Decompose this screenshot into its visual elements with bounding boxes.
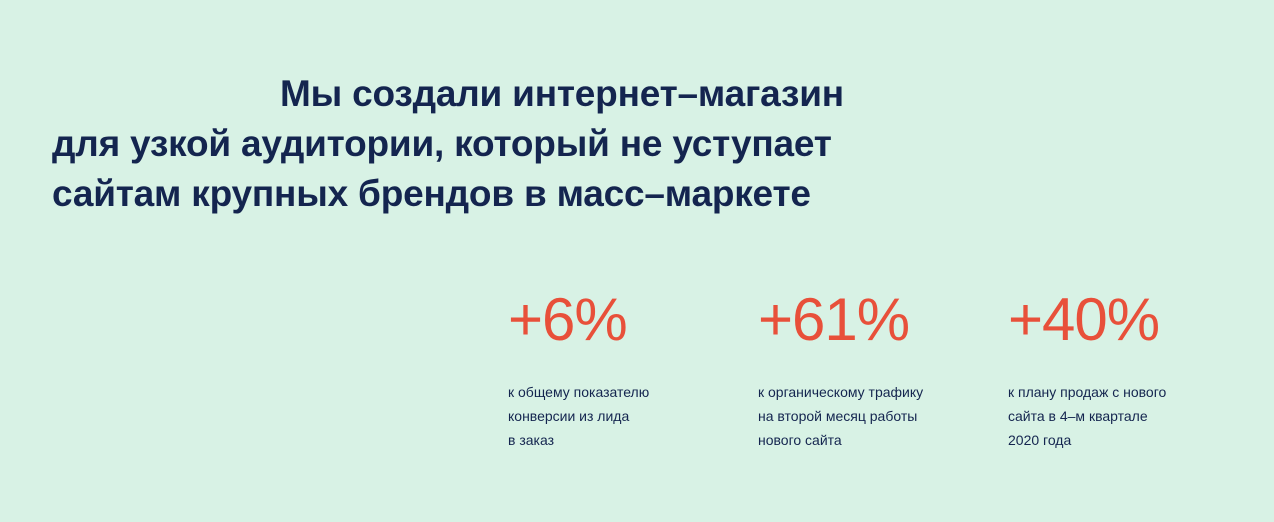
stat-item-conversion: +6% к общему показателю конверсии из лид… [508,288,758,452]
stat-value: +40% [1008,288,1240,352]
stat-description: к органическому трафику на второй месяц … [758,380,990,452]
stat-description: к плану продаж с нового сайта в 4–м квар… [1008,380,1240,452]
page-title-line-3: сайтам крупных брендов в масс–маркете [52,169,932,219]
stat-value: +6% [508,288,740,352]
case-study-section: Мы создали интернет–магазин для узкой ау… [0,0,1274,522]
stats-row: +6% к общему показателю конверсии из лид… [508,288,1258,452]
stat-description-line-1: к плану продаж с нового [1008,380,1240,404]
page-title: Мы создали интернет–магазин для узкой ау… [52,69,932,219]
stat-value: +61% [758,288,990,352]
stat-item-sales-plan: +40% к плану продаж с нового сайта в 4–м… [1008,288,1258,452]
stat-description-line-2: на второй месяц работы [758,404,990,428]
page-title-line-2: для узкой аудитории, который не уступает [52,119,932,169]
stat-description-line-2: конверсии из лида [508,404,740,428]
page-title-line-1: Мы создали интернет–магазин [52,69,932,119]
stat-description-line-3: 2020 года [1008,428,1240,452]
stat-description-line-1: к органическому трафику [758,380,990,404]
stat-description-line-3: в заказ [508,428,740,452]
stat-description-line-3: нового сайта [758,428,990,452]
stat-description: к общему показателю конверсии из лида в … [508,380,740,452]
stat-item-organic-traffic: +61% к органическому трафику на второй м… [758,288,1008,452]
stat-description-line-1: к общему показателю [508,380,740,404]
stat-description-line-2: сайта в 4–м квартале [1008,404,1240,428]
